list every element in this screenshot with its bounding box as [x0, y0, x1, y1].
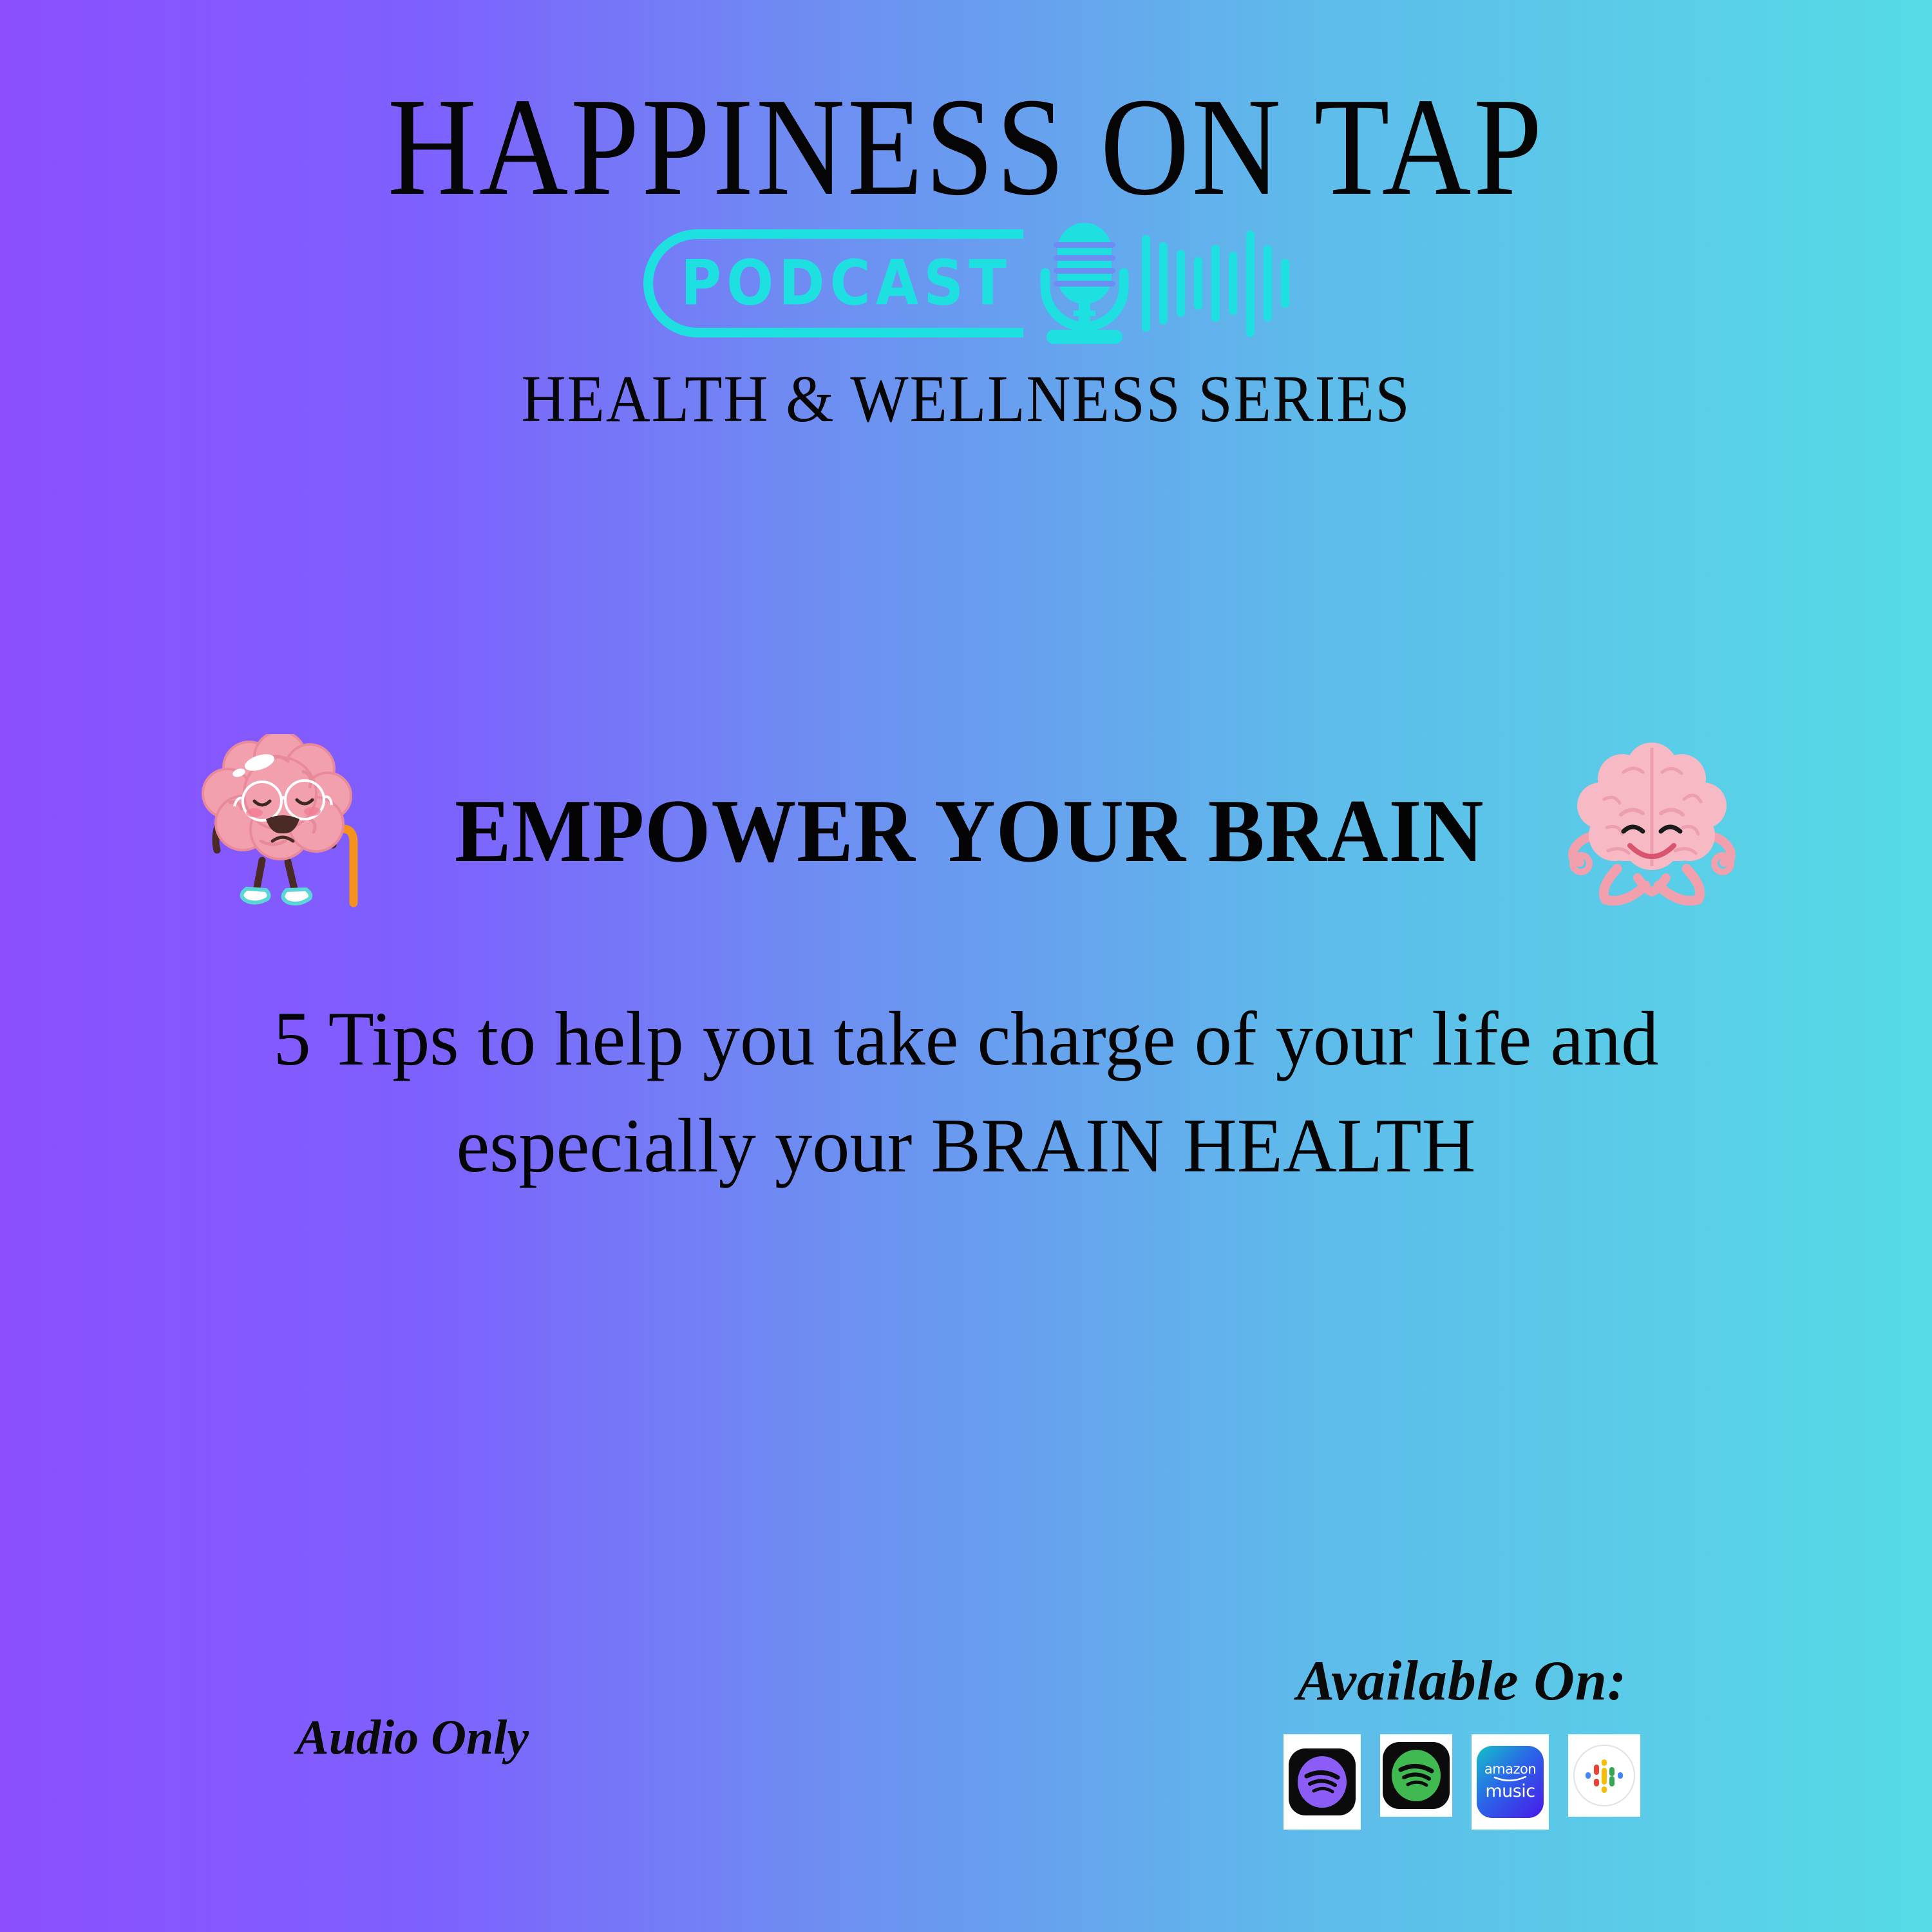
subtitle-line-1: 5 Tips to help you take charge of your l… [123, 985, 1810, 1092]
subtitle-line-2: especially your BRAIN HEALTH [123, 1092, 1810, 1199]
spotify-mark [1392, 1750, 1441, 1801]
elderly-brain-icon [190, 734, 377, 927]
waveform-icon [1142, 231, 1289, 337]
microphone-icon [1036, 219, 1133, 348]
meditating-brain-icon [1562, 737, 1742, 924]
platform-tile-spotify-green[interactable] [1380, 1734, 1452, 1817]
platform-tile-google-podcasts[interactable] [1568, 1734, 1640, 1817]
hero-headline: EMPOWER YOUR BRAIN [455, 779, 1484, 883]
subtitle-block: 5 Tips to help you take charge of your l… [123, 985, 1810, 1198]
wave-bar [1177, 250, 1185, 317]
podcast-badge-row: PODCAST [0, 219, 1932, 348]
podcast-badge: PODCAST [643, 229, 1023, 337]
audio-only-label: Audio Only [296, 1710, 529, 1766]
wave-bar [1142, 235, 1150, 332]
page-title: HAPPINESS ON TAP [116, 77, 1816, 218]
wave-bar [1194, 257, 1202, 310]
wave-bar [1246, 231, 1255, 337]
title-block: HAPPINESS ON TAP [0, 77, 1932, 218]
amazon-music-icon: amazon music [1477, 1746, 1544, 1818]
podcast-badge-label: PODCAST [664, 247, 1012, 319]
wave-bar [1229, 252, 1237, 315]
podcast-cover-art: HAPPINESS ON TAP PODCAST [0, 0, 1932, 1932]
wave-bar [1281, 259, 1289, 308]
google-podcasts-icon [1573, 1745, 1635, 1806]
hero-row: EMPOWER YOUR BRAIN [0, 734, 1932, 927]
wave-bar [1159, 242, 1168, 325]
wave-bar [1211, 245, 1220, 322]
music-wordmark: music [1485, 1783, 1535, 1801]
wave-bar [1264, 245, 1272, 321]
platform-tile-amazon-music[interactable]: amazon music [1472, 1734, 1549, 1830]
platform-tile-spotify-purple[interactable] [1283, 1734, 1361, 1830]
spotify-green-icon [1383, 1742, 1450, 1809]
spotify-purple-icon [1289, 1748, 1356, 1815]
amazon-wordmark: amazon [1484, 1763, 1536, 1776]
platform-icon-row: amazon music [1211, 1734, 1713, 1830]
spotify-mark [1298, 1756, 1347, 1808]
available-on-label: Available On: [1211, 1649, 1713, 1714]
series-subtitle: HEALTH & WELLNESS SERIES [77, 361, 1855, 437]
available-on-block: Available On: [1211, 1649, 1713, 1830]
